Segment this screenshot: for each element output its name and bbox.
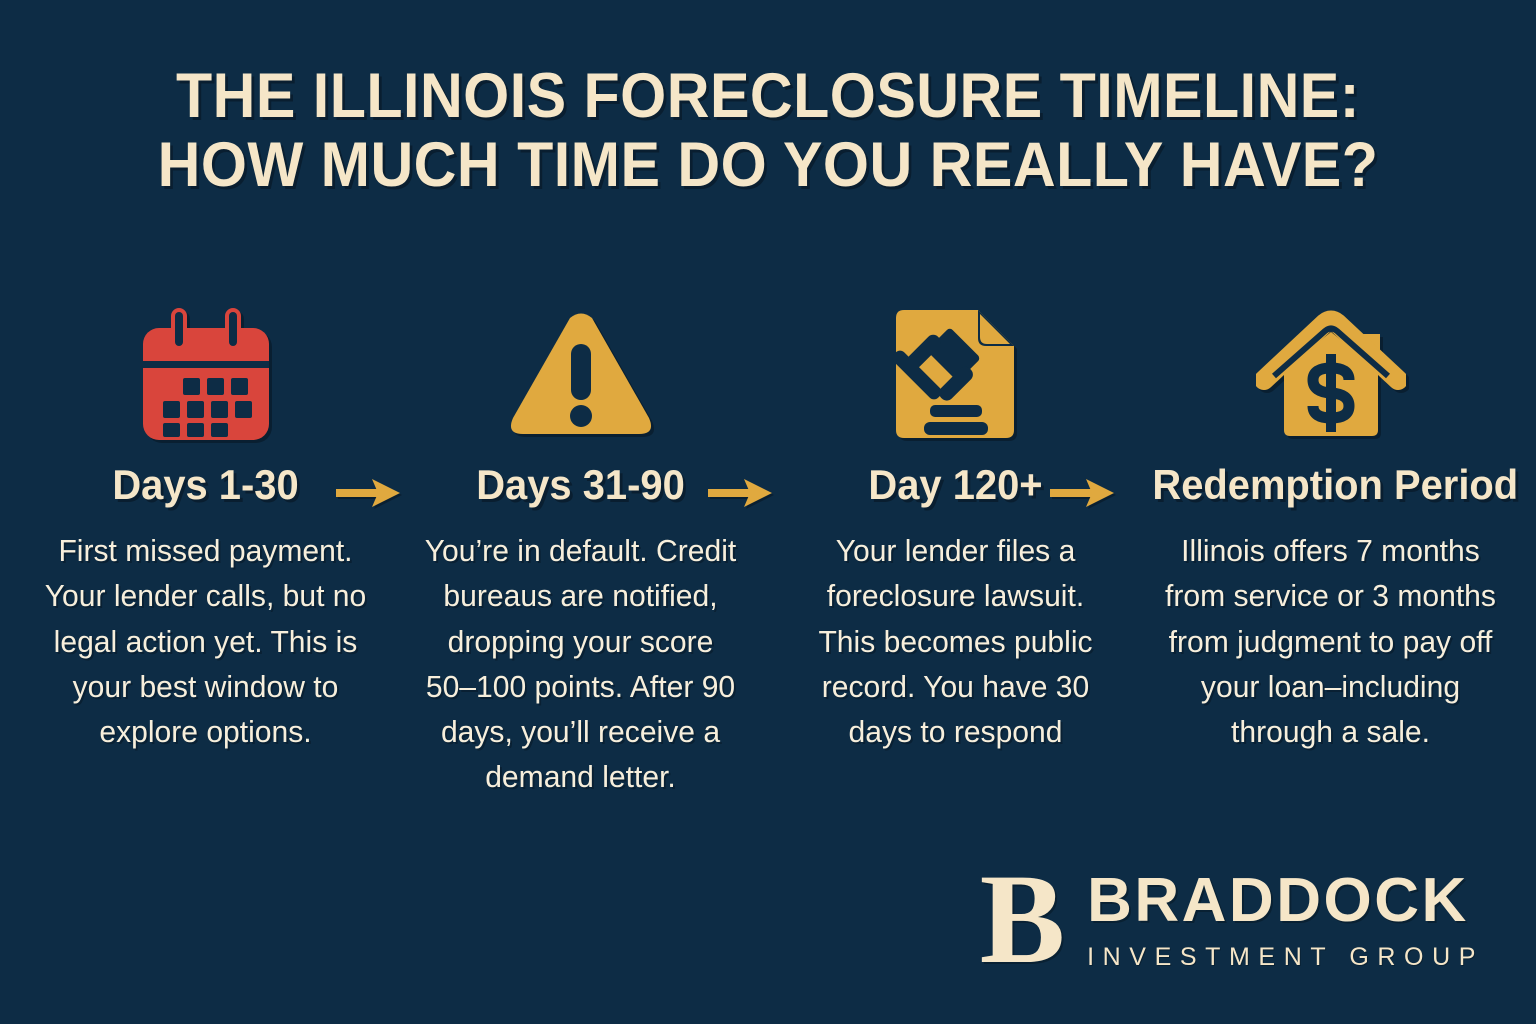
arrow-step1-to-step2-icon — [336, 476, 402, 510]
infographic-canvas: { "colors": { "background": "#0d2c45", "… — [0, 0, 1536, 1024]
calendar-icon — [18, 296, 393, 446]
step-1-heading: Days 1-30 — [27, 464, 383, 506]
arrow-step2-to-step3-icon — [708, 476, 774, 510]
timeline-steps: Days 1-30 First missed payment. Your len… — [18, 296, 1518, 800]
step-3-body: Your lender files a foreclosure lawsuit.… — [774, 528, 1138, 754]
timeline-step-1: Days 1-30 First missed payment. Your len… — [18, 296, 393, 754]
arrow-step3-to-step4-icon — [1050, 476, 1116, 510]
warning-triangle-icon — [393, 296, 768, 446]
timeline-step-3: Day 120+ Your lender files a foreclosure… — [768, 296, 1143, 754]
timeline-step-4: Redemption Period Illinois offers 7 mont… — [1143, 296, 1518, 754]
house-dollar-icon — [1143, 296, 1518, 446]
step-2-body: You’re in default. Credit bureaus are no… — [399, 528, 763, 800]
timeline-step-2: Days 31-90 You’re in default. Credit bur… — [393, 296, 768, 800]
page-title: THE ILLINOIS FORECLOSURE TIMELINE: HOW M… — [0, 62, 1536, 199]
gavel-document-icon — [768, 296, 1143, 446]
step-4-heading: Redemption Period — [1152, 464, 1508, 506]
brand-logo: B BRADDOCK INVESTMENT GROUP — [980, 867, 1484, 972]
title-line-2: HOW MUCH TIME DO YOU REALLY HAVE? — [46, 131, 1490, 200]
logo-monogram: B — [980, 867, 1065, 972]
step-4-body: Illinois offers 7 months from service or… — [1149, 528, 1513, 754]
logo-tagline: INVESTMENT GROUP — [1087, 945, 1484, 970]
step-2-heading: Days 31-90 — [402, 464, 758, 506]
step-1-body: First missed payment. Your lender calls,… — [24, 528, 388, 754]
logo-text-block: BRADDOCK INVESTMENT GROUP — [1087, 870, 1484, 970]
logo-company-name: BRADDOCK — [1087, 870, 1484, 932]
title-line-1: THE ILLINOIS FORECLOSURE TIMELINE: — [46, 62, 1490, 131]
